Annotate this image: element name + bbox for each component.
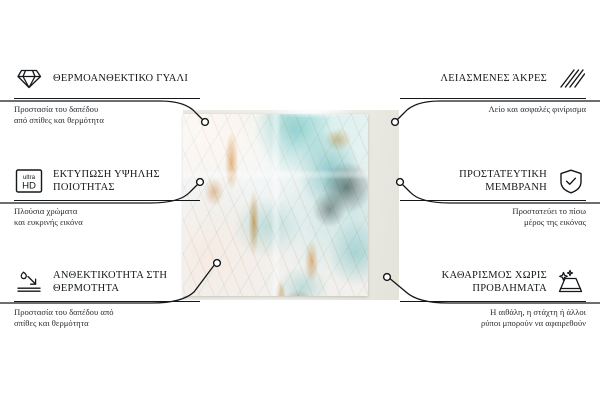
feature-divider xyxy=(400,98,586,99)
ultra-hd-badge-icon: ultra HD xyxy=(14,166,44,196)
feature-header: ΛΕΙΑΣΜΕΝΕΣ ΆΚΡΕΣ xyxy=(400,64,586,94)
feature-title: ΑΝΘΕΚΤΙΚΟΤΗΤΑ ΣΤΗ ΘΕΡΜΟΤΗΤΑ xyxy=(53,269,200,296)
feature-title: ΚΑΘΑΡΙΣΜΟΣ ΧΩΡΙΣ ΠΡΟΒΛΗΜΑΤΑ xyxy=(400,269,547,296)
diamond-icon xyxy=(14,64,44,94)
feature-description: Προστασία του δαπέδου από σπίθες και θερ… xyxy=(14,104,200,126)
feature-description: Πλούσια χρώματα και ευκρινής εικόνα xyxy=(14,206,200,228)
polished-edges-icon xyxy=(556,64,586,94)
feature-description: Προστασία του δαπέδου από σπίθες και θερ… xyxy=(14,307,200,329)
feature-easy-cleaning: ΚΑΘΑΡΙΣΜΟΣ ΧΩΡΙΣ ΠΡΟΒΛΗΜΑΤΑ Η αιθάλη, η … xyxy=(400,267,586,329)
product-glass-panel xyxy=(183,114,368,296)
feature-polished-edges: ΛΕΙΑΣΜΕΝΕΣ ΆΚΡΕΣ Λείο και ασφαλές φινίρι… xyxy=(400,64,586,115)
feature-description: Λείο και ασφαλές φινίρισμα xyxy=(400,104,586,115)
feature-high-quality-print: ultra HD ΕΚΤΥΠΩΣΗ ΥΨΗΛΗΣ ΠΟΙΟΤΗΤΑΣ Πλούσ… xyxy=(14,166,200,228)
feature-divider xyxy=(400,301,586,302)
feature-header: ΠΡΟΣΤΑΤΕΥΤΙΚΗ ΜΕΜΒΡΑΝΗ xyxy=(400,166,586,196)
feature-protective-membrane: ΠΡΟΣΤΑΤΕΥΤΙΚΗ ΜΕΜΒΡΑΝΗ Προστατεύει το πί… xyxy=(400,166,586,228)
feature-description: Προστατεύει το πίσω μέρος της εικόνας xyxy=(400,206,586,228)
feature-divider xyxy=(14,301,200,302)
product-image xyxy=(183,110,399,300)
feature-heat-durability: ΑΝΘΕΚΤΙΚΟΤΗΤΑ ΣΤΗ ΘΕΡΜΟΤΗΤΑ Προστασία το… xyxy=(14,267,200,329)
feature-header: ΑΝΘΕΚΤΙΚΟΤΗΤΑ ΣΤΗ ΘΕΡΜΟΤΗΤΑ xyxy=(14,267,200,297)
feature-title: ΛΕΙΑΣΜΕΝΕΣ ΆΚΡΕΣ xyxy=(440,72,547,86)
heat-resistance-icon xyxy=(14,267,44,297)
svg-text:HD: HD xyxy=(22,181,36,192)
feature-title: ΠΡΟΣΤΑΤΕΥΤΙΚΗ ΜΕΜΒΡΑΝΗ xyxy=(400,168,547,195)
feature-divider xyxy=(14,200,200,201)
feature-title: ΕΚΤΥΠΩΣΗ ΥΨΗΛΗΣ ΠΟΙΟΤΗΤΑΣ xyxy=(53,168,200,195)
feature-divider xyxy=(400,200,586,201)
feature-heat-resistant-glass: ΘΕΡΜΟΑΝΘΕΚΤΙΚΟ ΓΥΑΛΙ Προστασία του δαπέδ… xyxy=(14,64,200,126)
feature-header: ΚΑΘΑΡΙΣΜΟΣ ΧΩΡΙΣ ΠΡΟΒΛΗΜΑΤΑ xyxy=(400,267,586,297)
shield-check-icon xyxy=(556,166,586,196)
feature-header: ΘΕΡΜΟΑΝΘΕΚΤΙΚΟ ΓΥΑΛΙ xyxy=(14,64,200,94)
feature-description: Η αιθάλη, η στάχτη ή άλλοι ρύποι μπορούν… xyxy=(400,307,586,329)
feature-title: ΘΕΡΜΟΑΝΘΕΚΤΙΚΟ ΓΥΑΛΙ xyxy=(53,72,188,86)
feature-divider xyxy=(14,98,200,99)
artwork-sheen-layer xyxy=(183,114,368,296)
easy-cleaning-icon xyxy=(556,267,586,297)
feature-header: ultra HD ΕΚΤΥΠΩΣΗ ΥΨΗΛΗΣ ΠΟΙΟΤΗΤΑΣ xyxy=(14,166,200,196)
